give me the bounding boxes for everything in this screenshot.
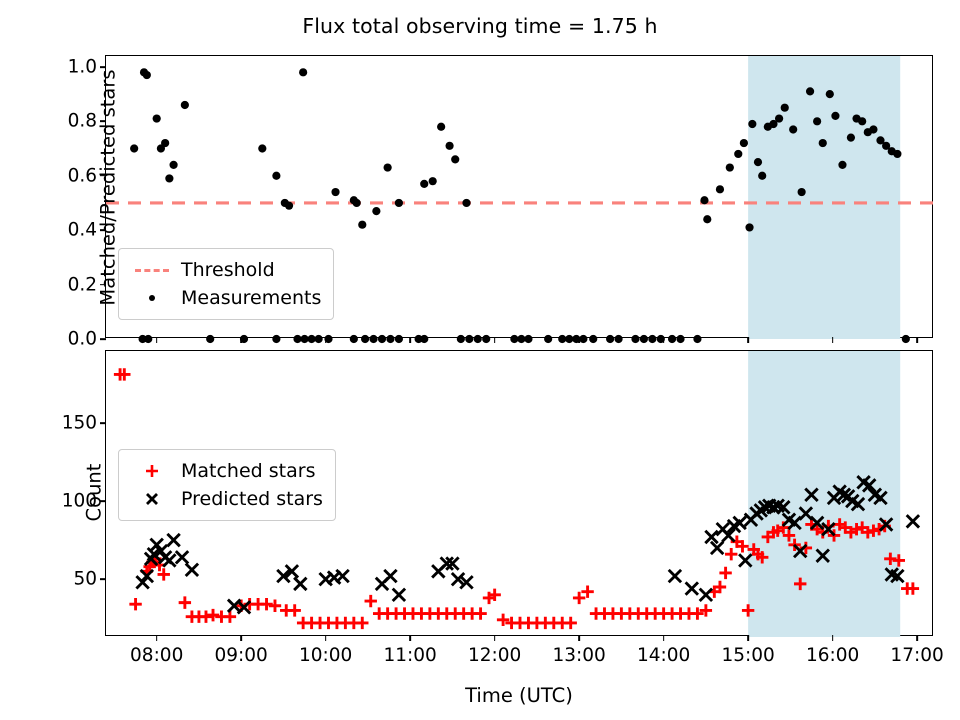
y-tick-mark bbox=[100, 66, 106, 68]
data-point bbox=[395, 199, 403, 207]
data-point bbox=[754, 158, 762, 166]
data-point bbox=[169, 161, 177, 169]
data-point bbox=[395, 335, 403, 343]
data-point bbox=[285, 202, 293, 210]
data-point bbox=[437, 123, 445, 131]
x-tick-mark bbox=[747, 635, 749, 641]
data-point bbox=[693, 335, 701, 343]
data-point bbox=[336, 570, 348, 582]
data-point bbox=[740, 139, 748, 147]
x-axis-label: Time (UTC) bbox=[105, 684, 933, 707]
x-tick-mark bbox=[747, 337, 749, 343]
x-tick-mark bbox=[832, 635, 834, 641]
chart-title: Flux total observing time = 1.75 h bbox=[0, 14, 960, 38]
legend-item-measurements: Measurements bbox=[129, 284, 321, 312]
data-point bbox=[524, 335, 532, 343]
data-point bbox=[384, 163, 392, 171]
data-point bbox=[565, 335, 573, 343]
y-tick-label: 0.2 bbox=[68, 274, 97, 295]
data-point bbox=[907, 515, 919, 527]
x-tick-mark bbox=[494, 337, 496, 343]
data-point bbox=[269, 600, 281, 612]
data-point bbox=[130, 144, 138, 152]
data-point bbox=[356, 617, 368, 629]
data-point bbox=[358, 221, 366, 229]
y-tick-mark bbox=[100, 578, 106, 580]
x-tick-label: 10:00 bbox=[299, 645, 352, 666]
data-point bbox=[353, 199, 361, 207]
x-tick-label: 09:00 bbox=[215, 645, 268, 666]
data-point bbox=[365, 595, 377, 607]
data-point bbox=[331, 188, 339, 196]
data-point bbox=[758, 172, 766, 180]
x-tick-mark bbox=[240, 635, 242, 641]
data-point bbox=[517, 335, 525, 343]
top-panel-legend: Threshold Measurements bbox=[118, 248, 334, 320]
data-point bbox=[315, 335, 323, 343]
data-point bbox=[700, 196, 708, 204]
y-tick-mark bbox=[100, 500, 106, 502]
legend-label-measurements: Measurements bbox=[175, 287, 321, 309]
data-point bbox=[372, 207, 380, 215]
x-tick-mark bbox=[494, 635, 496, 641]
x-tick-mark bbox=[916, 337, 918, 343]
data-point bbox=[307, 335, 315, 343]
y-tick-label: 0.4 bbox=[68, 220, 97, 241]
data-point bbox=[260, 598, 272, 610]
data-point bbox=[640, 335, 648, 343]
data-point bbox=[826, 90, 834, 98]
data-point bbox=[564, 617, 576, 629]
data-point bbox=[686, 582, 698, 594]
data-point bbox=[589, 335, 597, 343]
data-point bbox=[272, 172, 280, 180]
data-point bbox=[745, 223, 753, 231]
x-tick-mark bbox=[832, 337, 834, 343]
x-tick-mark bbox=[578, 337, 580, 343]
data-point bbox=[384, 570, 396, 582]
data-point bbox=[294, 578, 306, 590]
x-tick-label: 14:00 bbox=[637, 645, 690, 666]
legend-item-predicted-stars: Predicted stars bbox=[129, 485, 323, 513]
y-tick-label: 150 bbox=[62, 412, 97, 433]
x-tick-mark bbox=[325, 337, 327, 343]
data-point bbox=[207, 609, 219, 621]
data-point bbox=[300, 335, 308, 343]
data-point bbox=[393, 589, 405, 601]
y-tick-label: 1.0 bbox=[68, 56, 97, 77]
top-panel-axes: Matched/Predicted stars 0.00.20.40.60.81… bbox=[105, 55, 933, 338]
data-point bbox=[893, 150, 901, 158]
plus-marker-icon bbox=[129, 461, 175, 481]
y-tick-mark bbox=[100, 229, 106, 231]
data-point bbox=[200, 610, 212, 622]
data-point bbox=[726, 163, 734, 171]
legend-label-matched-stars: Matched stars bbox=[175, 460, 315, 482]
data-point bbox=[781, 104, 789, 112]
data-point bbox=[462, 199, 470, 207]
data-point bbox=[716, 185, 724, 193]
x-tick-mark bbox=[663, 337, 665, 343]
data-point bbox=[420, 335, 428, 343]
data-point bbox=[451, 155, 459, 163]
y-tick-label: 0.6 bbox=[68, 165, 97, 186]
measurement-dot-icon bbox=[129, 295, 175, 301]
data-point bbox=[748, 120, 756, 128]
x-tick-mark bbox=[409, 635, 411, 641]
data-point bbox=[176, 551, 188, 563]
data-point bbox=[668, 335, 676, 343]
y-tick-mark bbox=[100, 120, 106, 122]
data-point bbox=[299, 68, 307, 76]
data-point bbox=[725, 548, 737, 560]
data-point bbox=[819, 139, 827, 147]
data-point bbox=[789, 125, 797, 133]
legend-item-threshold: Threshold bbox=[129, 256, 321, 284]
data-point bbox=[544, 335, 552, 343]
data-point bbox=[206, 335, 214, 343]
data-point bbox=[669, 570, 681, 582]
data-point bbox=[429, 177, 437, 185]
data-point bbox=[573, 592, 585, 604]
data-point bbox=[474, 607, 486, 619]
data-point bbox=[165, 174, 173, 182]
legend-label-threshold: Threshold bbox=[175, 259, 275, 281]
data-point bbox=[350, 335, 358, 343]
x-tick-mark bbox=[156, 635, 158, 641]
data-point bbox=[813, 117, 821, 125]
data-point bbox=[474, 335, 482, 343]
bottom-panel-axes: Count 50100150 08:0009:0010:0011:0012:00… bbox=[105, 350, 933, 636]
data-point bbox=[775, 114, 783, 122]
legend-label-predicted-stars: Predicted stars bbox=[175, 488, 323, 510]
y-tick-label: 0.8 bbox=[68, 111, 97, 132]
data-point bbox=[700, 589, 712, 601]
y-tick-label: 0.0 bbox=[68, 329, 97, 350]
y-tick-label: 50 bbox=[73, 569, 97, 590]
y-tick-mark bbox=[100, 284, 106, 286]
data-point bbox=[445, 142, 453, 150]
data-point bbox=[579, 335, 587, 343]
x-tick-label: 08:00 bbox=[130, 645, 183, 666]
x-tick-mark bbox=[156, 337, 158, 343]
data-point bbox=[258, 144, 266, 152]
x-tick-mark bbox=[916, 635, 918, 641]
y-tick-label: 100 bbox=[62, 491, 97, 512]
data-point bbox=[272, 335, 280, 343]
data-point bbox=[288, 604, 300, 616]
cross-marker-icon bbox=[129, 489, 175, 509]
data-point bbox=[798, 188, 806, 196]
y-tick-mark bbox=[100, 338, 106, 340]
data-point bbox=[420, 180, 428, 188]
y-tick-mark bbox=[100, 175, 106, 177]
observing-window-shading bbox=[748, 56, 900, 339]
x-tick-mark bbox=[240, 337, 242, 343]
figure-canvas: Flux total observing time = 1.75 h Match… bbox=[0, 0, 960, 720]
data-point bbox=[558, 335, 566, 343]
data-point bbox=[631, 335, 639, 343]
data-point bbox=[482, 335, 490, 343]
data-point bbox=[186, 564, 198, 576]
data-point bbox=[179, 596, 191, 608]
x-tick-label: 12:00 bbox=[468, 645, 521, 666]
data-point bbox=[676, 335, 684, 343]
data-point bbox=[869, 125, 877, 133]
x-tick-mark bbox=[663, 635, 665, 641]
data-point bbox=[703, 215, 711, 223]
data-point bbox=[386, 335, 394, 343]
data-point bbox=[181, 101, 189, 109]
data-point bbox=[719, 567, 731, 579]
data-point bbox=[902, 335, 910, 343]
x-tick-mark bbox=[409, 337, 411, 343]
top-panel-ylabel: Matched/Predicted stars bbox=[97, 38, 120, 338]
bottom-panel-legend: Matched stars Predicted stars bbox=[118, 449, 336, 521]
x-tick-label: 15:00 bbox=[721, 645, 774, 666]
data-point bbox=[614, 335, 622, 343]
x-tick-label: 13:00 bbox=[552, 645, 605, 666]
data-point bbox=[293, 335, 301, 343]
data-point bbox=[806, 87, 814, 95]
data-point bbox=[510, 335, 518, 343]
threshold-line-icon bbox=[129, 269, 175, 272]
data-point bbox=[457, 335, 465, 343]
data-point bbox=[858, 117, 866, 125]
data-point bbox=[153, 114, 161, 122]
data-point bbox=[143, 71, 151, 79]
x-tick-label: 16:00 bbox=[806, 645, 859, 666]
data-point bbox=[161, 139, 169, 147]
data-point bbox=[831, 112, 839, 120]
data-point bbox=[847, 134, 855, 142]
data-point bbox=[369, 335, 377, 343]
x-tick-mark bbox=[325, 635, 327, 641]
x-tick-label: 11:00 bbox=[383, 645, 436, 666]
x-tick-mark bbox=[578, 635, 580, 641]
data-point bbox=[465, 335, 473, 343]
data-point bbox=[163, 554, 175, 566]
data-point bbox=[224, 610, 236, 622]
data-point bbox=[581, 585, 593, 597]
data-point bbox=[361, 335, 369, 343]
y-tick-mark bbox=[100, 422, 106, 424]
data-point bbox=[648, 335, 656, 343]
data-point bbox=[606, 335, 614, 343]
legend-item-matched-stars: Matched stars bbox=[129, 457, 323, 485]
data-point bbox=[734, 150, 742, 158]
data-point bbox=[378, 335, 386, 343]
x-tick-label: 17:00 bbox=[890, 645, 943, 666]
data-point bbox=[144, 335, 152, 343]
data-point bbox=[838, 161, 846, 169]
data-point bbox=[129, 598, 141, 610]
data-point bbox=[167, 534, 179, 546]
